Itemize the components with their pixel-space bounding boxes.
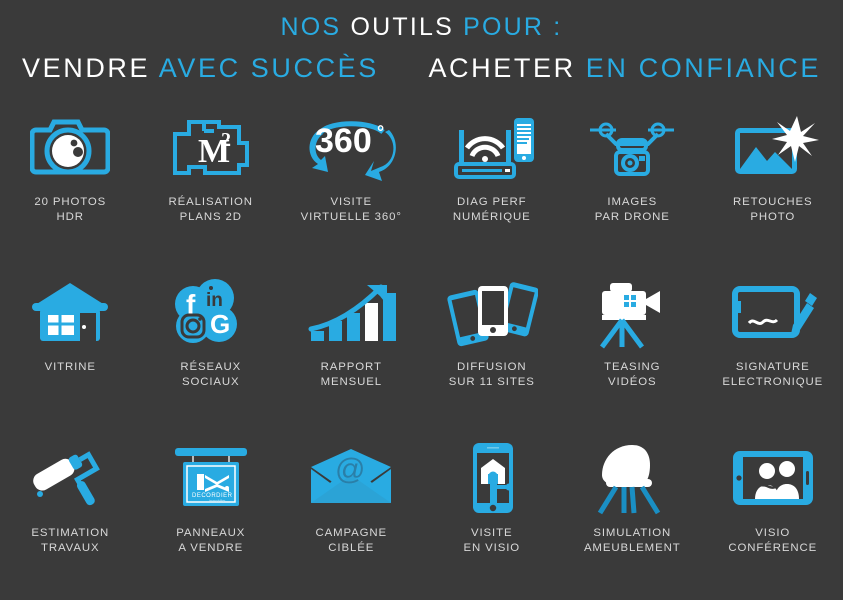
tool-label: CAMPAGNE CIBLÉE — [315, 526, 387, 556]
photo-retouch-icon — [703, 108, 843, 186]
chair-icon — [562, 439, 703, 517]
tool-item-photos-hdr[interactable]: 20 PHOTOS HDR — [0, 104, 141, 269]
tool-label: VITRINE — [45, 360, 96, 375]
tool-item-social-networks[interactable]: f in G RÉSEAUX SOCIAUX — [141, 269, 282, 434]
tool-item-video-conference[interactable]: VISIO CONFÉRENCE — [703, 435, 843, 600]
tool-item-esignature[interactable]: SIGNATURE ELECTRONIQUE — [703, 269, 843, 434]
title-word-nos: NOS — [281, 13, 342, 41]
drone-icon — [562, 108, 703, 186]
tool-item-furniture-simulation[interactable]: SIMULATION AMEUBLEMENT — [562, 435, 703, 600]
tool-item-digital-perf[interactable]: DIAG PERF NUMÉRIQUE — [422, 104, 563, 269]
tools-grid: 20 PHOTOS HDR M 2 RÉALISATION PLANS 2D — [0, 104, 843, 600]
tool-label: PANNEAUX A VENDRE — [176, 526, 245, 556]
tool-item-virtual-tour[interactable]: 360 ° VISITE VIRTUELLE 360° — [281, 104, 422, 269]
phone-visit-icon — [422, 439, 563, 517]
m2-exponent: 2 — [221, 129, 231, 151]
title-word-outils: OUTILS — [350, 13, 454, 41]
subtitle-left-part2: AVEC SUCCÈS — [159, 53, 379, 83]
tool-item-targeted-campaign[interactable]: @ CAMPAGNE CIBLÉE — [281, 435, 422, 600]
tool-item-drone-images[interactable]: IMAGES PAR DRONE — [562, 104, 703, 269]
tool-item-plans-2d[interactable]: M 2 RÉALISATION PLANS 2D — [141, 104, 282, 269]
tool-item-vitrine[interactable]: VITRINE — [0, 269, 141, 434]
tool-label: IMAGES PAR DRONE — [595, 195, 670, 225]
router-wifi-icon — [422, 108, 563, 186]
page-title: NOS OUTILS POUR : — [0, 0, 843, 42]
degree-symbol: ° — [377, 122, 384, 142]
tablets-icon — [422, 273, 563, 351]
tool-item-photo-retouch[interactable]: RETOUCHES PHOTO — [703, 104, 843, 269]
poster: NOS OUTILS POUR : VENDRE AVEC SUCCÈS ACH… — [0, 0, 843, 600]
tool-label: DIFFUSION SUR 11 SITES — [449, 360, 535, 390]
tool-item-works-estimate[interactable]: ESTIMATION TRAVAUX — [0, 435, 141, 600]
tool-label: 20 PHOTOS HDR — [34, 195, 106, 225]
tool-label: SIGNATURE ELECTRONIQUE — [722, 360, 823, 390]
subtitle-right: ACHETER EN CONFIANCE — [428, 54, 821, 84]
at-symbol: @ — [335, 453, 365, 486]
tool-label: SIMULATION AMEUBLEMENT — [584, 526, 681, 556]
tool-label: VISITE EN VISIO — [463, 526, 520, 556]
camera-icon — [0, 108, 141, 186]
tool-label: RETOUCHES PHOTO — [733, 195, 812, 225]
threesixty-icon: 360 ° — [281, 108, 422, 186]
subtitle-right-part1: ACHETER — [428, 53, 575, 83]
hanging-sign-icon: DECORDIER immobilier — [141, 439, 282, 517]
linkedin-letters: in — [206, 290, 223, 311]
paint-roller-icon — [0, 439, 141, 517]
title-word-pour: POUR : — [463, 13, 562, 41]
tablet-people-icon — [703, 439, 843, 517]
video-camera-tripod-icon — [562, 273, 703, 351]
tool-item-diffusion[interactable]: DIFFUSION SUR 11 SITES — [422, 269, 563, 434]
tool-label: TEASING VIDÉOS — [604, 360, 660, 390]
tool-item-video-visit[interactable]: VISITE EN VISIO — [422, 435, 563, 600]
tool-label: RÉSEAUX SOCIAUX — [180, 360, 241, 390]
tool-item-teasing-videos[interactable]: TEASING VIDÉOS — [562, 269, 703, 434]
envelope-at-icon: @ — [281, 439, 422, 517]
subtitle-left: VENDRE AVEC SUCCÈS — [22, 54, 379, 84]
house-icon — [0, 273, 141, 351]
tablet-stylus-icon — [703, 273, 843, 351]
tool-label: VISITE VIRTUELLE 360° — [301, 195, 402, 225]
tool-label: RÉALISATION PLANS 2D — [169, 195, 253, 225]
social-networks-icon: f in G — [141, 273, 282, 351]
subtitle-right-part2: EN CONFIANCE — [586, 53, 821, 83]
tool-item-for-sale-signs[interactable]: DECORDIER immobilier PANNEAUX A VENDRE — [141, 435, 282, 600]
tool-label: VISIO CONFÉRENCE — [728, 526, 817, 556]
tool-label: DIAG PERF NUMÉRIQUE — [453, 195, 531, 225]
threesixty-number: 360 — [315, 122, 372, 160]
bar-chart-arrow-icon — [281, 273, 422, 351]
tool-item-monthly-report[interactable]: RAPPORT MENSUEL — [281, 269, 422, 434]
sign-sub-text: immobilier — [209, 499, 226, 503]
tool-label: ESTIMATION TRAVAUX — [31, 526, 109, 556]
subtitle-row: VENDRE AVEC SUCCÈS ACHETER EN CONFIANCE — [0, 42, 843, 84]
subtitle-left-part1: VENDRE — [22, 53, 150, 83]
floorplan-m2-icon: M 2 — [141, 108, 282, 186]
tool-label: RAPPORT MENSUEL — [321, 360, 382, 390]
google-letter: G — [210, 309, 230, 339]
